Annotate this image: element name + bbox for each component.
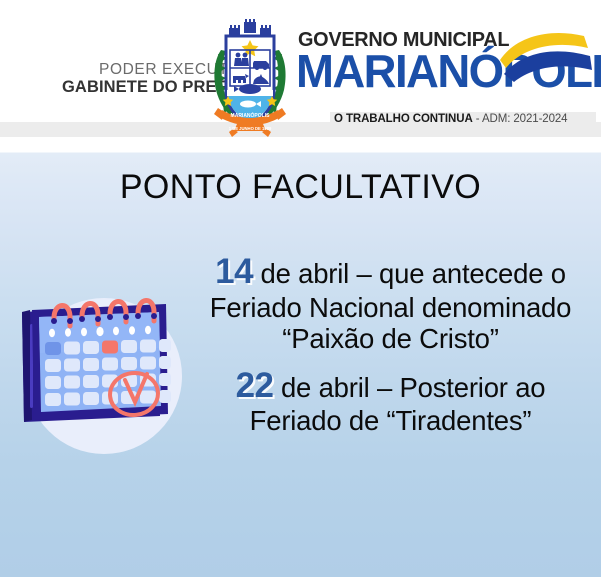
paragraph-1-text: de abril – que antecede o Feriado Nacion… (210, 258, 572, 354)
header-content: PODER EXECUTIVO GABINETE DO PREFEITO (0, 0, 601, 145)
calendar-illustration (8, 288, 194, 474)
announcement-text: 14 de abril – que antecede o Feriado Nac… (186, 252, 595, 437)
page-title: PONTO FACULTATIVO (0, 168, 601, 207)
day-number-22: 22 (236, 366, 274, 405)
announcement-paragraph-2: 22 de abril – Posterior ao Feriado de “T… (186, 366, 595, 437)
slogan-text: O TRABALHO CONTINUA - ADM: 2021-2024 (334, 113, 567, 125)
slogan-bold-label: O TRABALHO CONTINUA (334, 113, 473, 125)
government-wordmark: GOVERNO MUNICIPAL MARIANÓPOLIS O TRABALH… (296, 28, 596, 133)
slogan-admin-label: - ADM: 2021-2024 (473, 113, 568, 125)
svg-text:MARIANÓPOLIS: MARIANÓPOLIS (231, 111, 271, 119)
poster-canvas: PODER EXECUTIVO GABINETE DO PREFEITO (0, 0, 601, 577)
swoosh-icon (492, 30, 596, 82)
svg-text:1 DE JUNHO DE 1989: 1 DE JUNHO DE 1989 (229, 126, 272, 131)
announcement-paragraph-1: 14 de abril – que antecede o Feriado Nac… (186, 252, 595, 355)
day-number-14: 14 (215, 252, 253, 291)
coat-of-arms-icon: MARIANÓPOLIS 1 DE JUNHO DE 1989 (204, 16, 296, 140)
header-banner: PODER EXECUTIVO GABINETE DO PREFEITO (0, 0, 601, 145)
paragraph-2-text: de abril – Posterior ao Feriado de “Tira… (250, 372, 546, 437)
